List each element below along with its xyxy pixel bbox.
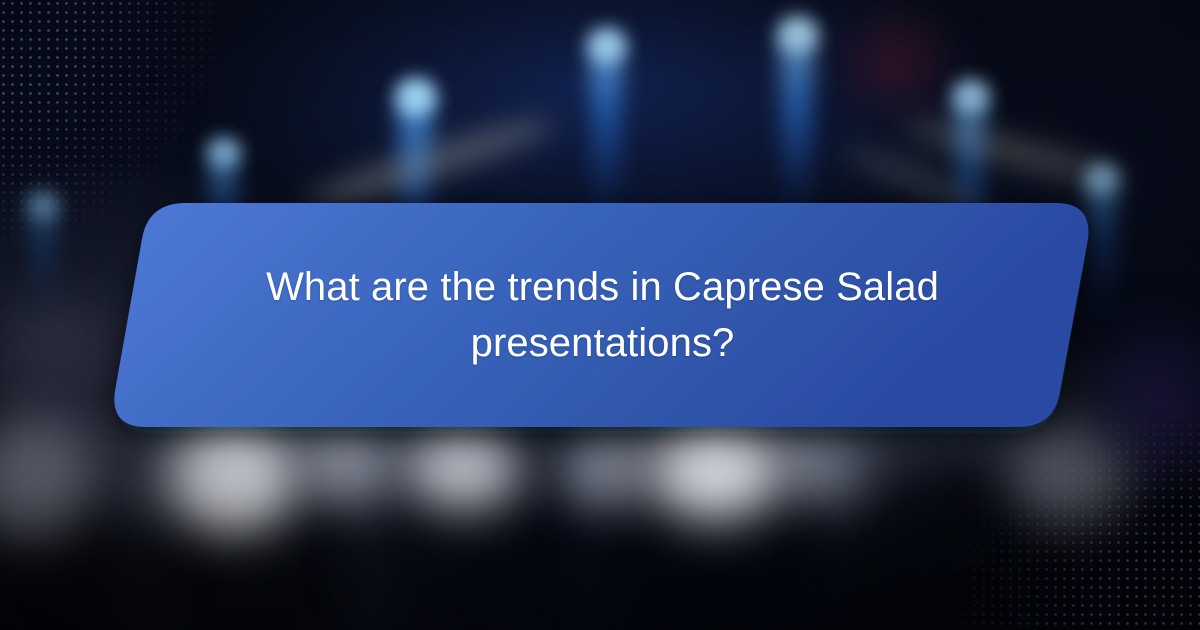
question-card-banner: What are the trends in Caprese Salad pre… (0, 0, 1200, 630)
question-text: What are the trends in Caprese Salad pre… (175, 203, 1030, 427)
question-card: What are the trends in Caprese Salad pre… (0, 0, 1200, 630)
